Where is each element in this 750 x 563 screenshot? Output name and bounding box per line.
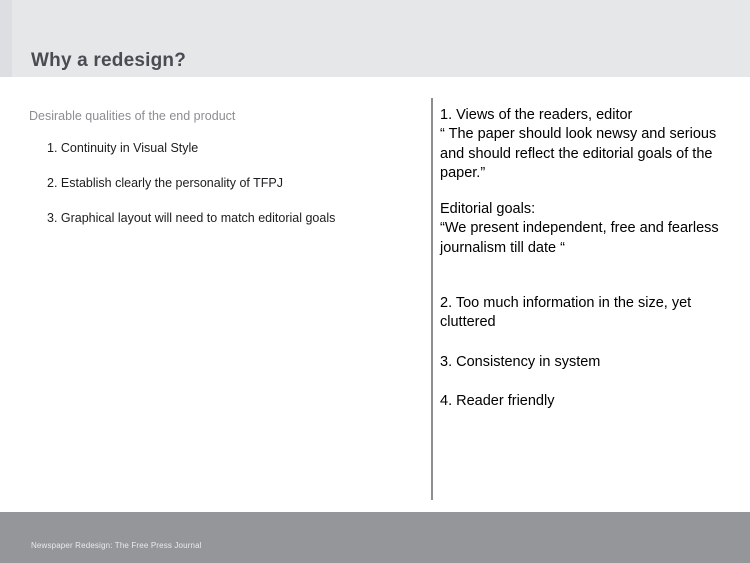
- spacer: [440, 258, 728, 294]
- slide-canvas: Why a redesign? Desirable qualities of t…: [0, 0, 750, 563]
- spacer: [440, 183, 728, 200]
- header-accent-bar: [0, 0, 12, 77]
- reader-friendly-block: 4. Reader friendly: [440, 392, 728, 411]
- footer-caption: Newspaper Redesign: The Free Press Journ…: [31, 541, 202, 550]
- editorial-goals-block: Editorial goals: “We present independent…: [440, 200, 728, 258]
- left-column-subtitle: Desirable qualities of the end product: [29, 108, 409, 126]
- consistency-block: 3. Consistency in system: [440, 353, 728, 372]
- slide-title: Why a redesign?: [31, 50, 186, 72]
- slide-footer-band: [0, 512, 750, 563]
- list-item: 1. Continuity in Visual Style: [47, 140, 347, 157]
- right-column: 1. Views of the readers, editor “ The pa…: [440, 106, 728, 411]
- spacer: [440, 333, 728, 353]
- list-item: 3. Graphical layout will need to match e…: [47, 210, 347, 227]
- too-much-information-block: 2. Too much information in the size, yet…: [440, 294, 728, 333]
- column-divider-line: [431, 98, 433, 500]
- spacer: [440, 372, 728, 392]
- left-column: Desirable qualities of the end product 1…: [29, 108, 409, 245]
- list-item: 2. Establish clearly the personality of …: [47, 175, 347, 192]
- desirable-qualities-list: 1. Continuity in Visual Style 2. Establi…: [29, 140, 409, 228]
- views-of-readers-block: 1. Views of the readers, editor “ The pa…: [440, 106, 728, 183]
